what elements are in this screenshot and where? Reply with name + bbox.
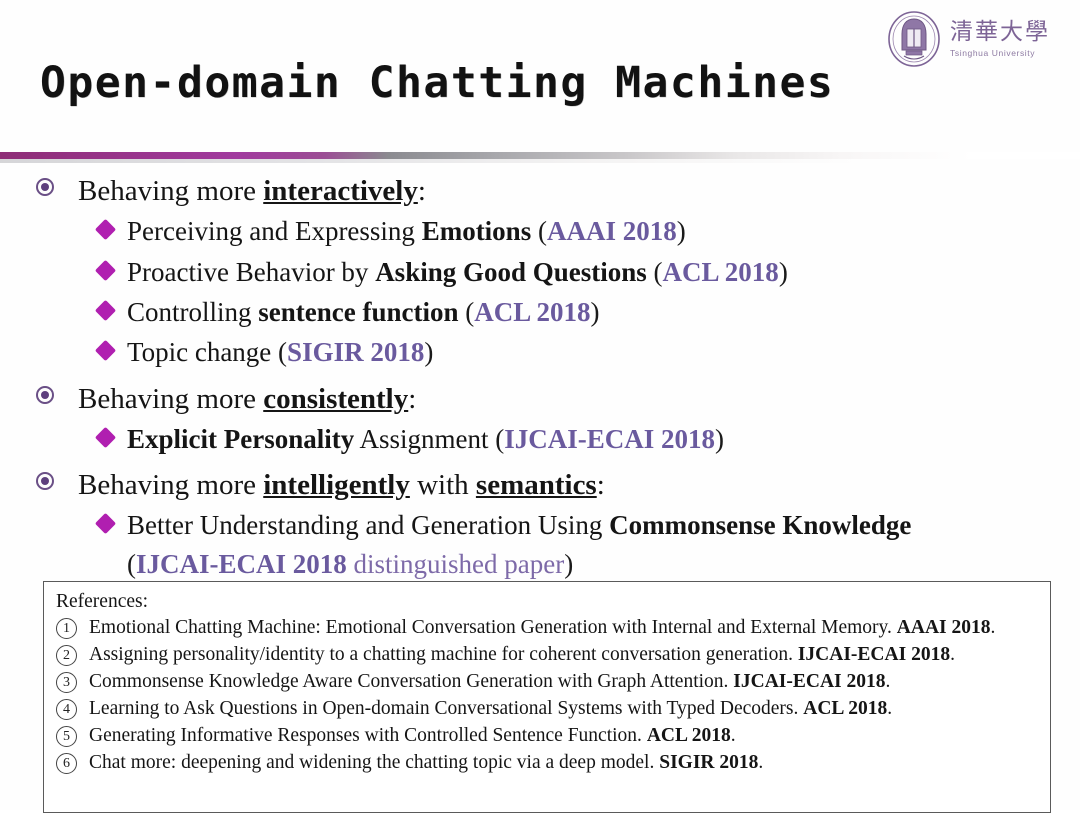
reference-text: Assigning personality/identity to a chat… — [89, 642, 1040, 668]
tsinghua-bell-emblem-icon — [886, 10, 942, 68]
reference-number: 5 — [56, 726, 77, 747]
fisheye-bullet-icon — [36, 178, 54, 196]
emphasis-text-2: semantics — [476, 469, 597, 501]
diamond-bullet-icon — [95, 219, 116, 240]
reference-number: 4 — [56, 699, 77, 720]
reference-number: 6 — [56, 753, 77, 774]
venue-tag: ACL 2018 — [663, 257, 779, 287]
reference-number: 1 — [56, 618, 77, 639]
sub-item-explicit-personality: Explicit Personality Assignment (IJCAI-E… — [0, 420, 1080, 458]
diamond-bullet-icon — [95, 300, 116, 321]
reference-number: 2 — [56, 645, 77, 666]
references-heading: References: — [56, 589, 1040, 614]
sub-item-asking-good-questions: Proactive Behavior by Asking Good Questi… — [0, 253, 1080, 291]
reference-venue: SIGIR 2018 — [659, 752, 758, 773]
sub-item-label: Explicit Personality Assignment (IJCAI-E… — [127, 420, 724, 458]
title-divider-bar — [0, 152, 1080, 159]
sub-item-sentence-function: Controlling sentence function (ACL 2018) — [0, 293, 1080, 331]
fisheye-bullet-icon — [36, 386, 54, 404]
diamond-bullet-icon — [95, 340, 116, 361]
outline-list: Behaving more interactively: Perceiving … — [0, 172, 1080, 583]
reference-venue: IJCAI-ECAI 2018 — [798, 644, 950, 665]
venue-tag: AAAI 2018 — [547, 216, 677, 246]
reference-text: Learning to Ask Questions in Open-domain… — [89, 696, 1040, 722]
logo-name-en: Tsinghua University — [950, 48, 1050, 58]
reference-item: 4 Learning to Ask Questions in Open-doma… — [56, 696, 1040, 722]
reference-number: 3 — [56, 672, 77, 693]
reference-item: 6 Chat more: deepening and widening the … — [56, 750, 1040, 776]
reference-text: Chat more: deepening and widening the ch… — [89, 750, 1040, 776]
fisheye-bullet-icon — [36, 472, 54, 490]
sub-item-label: Proactive Behavior by Asking Good Questi… — [127, 253, 788, 291]
reference-venue: ACL 2018 — [647, 725, 731, 746]
venue-note: distinguished paper — [347, 549, 564, 579]
sub-item-emotions: Perceiving and Expressing Emotions (AAAI… — [0, 212, 1080, 250]
outline-item-interactively: Behaving more interactively: — [0, 172, 1080, 210]
reference-text: Emotional Chatting Machine: Emotional Co… — [89, 615, 1040, 641]
emphasis-text: consistently — [263, 383, 408, 415]
slide-canvas: 清華大學 Tsinghua University Open-domain Cha… — [0, 0, 1080, 810]
venue-tag: SIGIR 2018 — [287, 337, 424, 367]
venue-tag: IJCAI-ECAI 2018 — [504, 424, 715, 454]
sub-item-label: Better Understanding and Generation Usin… — [127, 506, 911, 544]
title-divider-shadow — [0, 159, 1080, 163]
outline-item-consistently: Behaving more consistently: — [0, 380, 1080, 418]
reference-venue: AAAI 2018 — [897, 617, 991, 638]
outline-item-label: Behaving more interactively: — [78, 172, 426, 210]
venue-tag: ACL 2018 — [474, 297, 590, 327]
logo-wordmark: 清華大學 Tsinghua University — [950, 20, 1050, 57]
page-title: Open-domain Chatting Machines — [40, 58, 834, 108]
outline-item-intelligently: Behaving more intelligently with semanti… — [0, 466, 1080, 504]
emphasis-text: intelligently — [263, 469, 410, 501]
sub-item-commonsense-venue-line: (IJCAI-ECAI 2018 distinguished paper) — [0, 545, 1080, 583]
reference-item: 2 Assigning personality/identity to a ch… — [56, 642, 1040, 668]
venue-tag: IJCAI-ECAI 2018 — [136, 549, 347, 579]
diamond-bullet-icon — [95, 259, 116, 280]
sub-item-commonsense-knowledge: Better Understanding and Generation Usin… — [0, 506, 1080, 544]
reference-item: 1 Emotional Chatting Machine: Emotional … — [56, 615, 1040, 641]
tsinghua-logo: 清華大學 Tsinghua University — [886, 8, 1066, 70]
reference-text: Commonsense Knowledge Aware Conversation… — [89, 669, 1040, 695]
reference-item: 3 Commonsense Knowledge Aware Conversati… — [56, 669, 1040, 695]
sub-item-label: Controlling sentence function (ACL 2018) — [127, 293, 600, 331]
sub-item-topic-change: Topic change (SIGIR 2018) — [0, 333, 1080, 371]
references-box: References: 1 Emotional Chatting Machine… — [43, 581, 1051, 813]
reference-venue: IJCAI-ECAI 2018 — [733, 671, 885, 692]
emphasis-text: interactively — [263, 175, 418, 207]
diamond-bullet-icon — [95, 513, 116, 534]
reference-item: 5 Generating Informative Responses with … — [56, 723, 1040, 749]
outline-item-label: Behaving more intelligently with semanti… — [78, 466, 605, 504]
logo-name-cn: 清華大學 — [950, 20, 1050, 44]
diamond-bullet-icon — [95, 427, 116, 448]
reference-text: Generating Informative Responses with Co… — [89, 723, 1040, 749]
sub-item-label: Perceiving and Expressing Emotions (AAAI… — [127, 212, 686, 250]
outline-item-label: Behaving more consistently: — [78, 380, 416, 418]
reference-venue: ACL 2018 — [803, 698, 887, 719]
sub-item-label: Topic change (SIGIR 2018) — [127, 333, 433, 371]
